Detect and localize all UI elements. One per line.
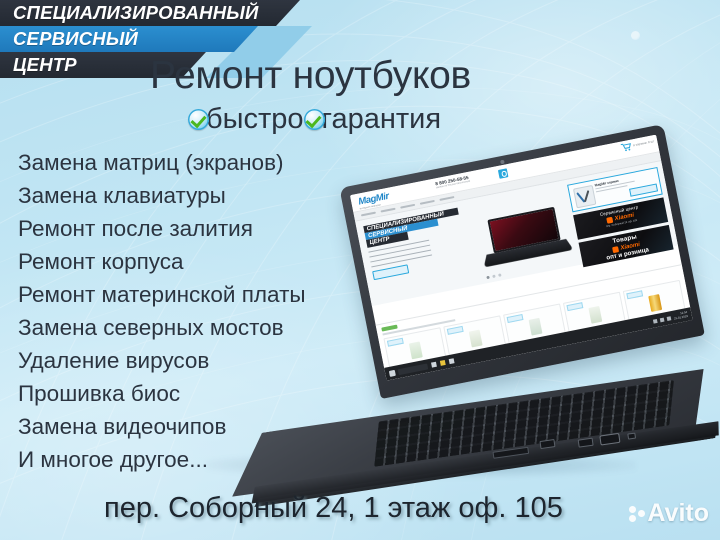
- tools-icon: [573, 185, 597, 209]
- taskbar-app-icon[interactable]: [449, 358, 455, 364]
- badge-warranty-label: гарантия: [322, 103, 442, 136]
- promo-column: MagMir сервис Сервисный центр Xiaomi: [567, 167, 674, 270]
- service-item: Удаление вирусов: [18, 344, 348, 377]
- hero-text-block: СПЕЦИАЛИЗИРОВАННЫЙ СЕРВИСНЫЙ ЦЕНТР: [363, 205, 480, 279]
- page-title: Ремонт ноутбуков: [150, 54, 570, 98]
- taskbar-tray[interactable]: 12:04 25.01.2019: [653, 311, 689, 324]
- tray-icon[interactable]: [667, 316, 672, 321]
- product-badge: [507, 314, 524, 323]
- service-item: Замена видеочипов: [18, 410, 348, 443]
- carousel-dot[interactable]: [498, 273, 502, 277]
- checkmark-icon: [304, 109, 325, 130]
- nav-item[interactable]: [380, 207, 395, 212]
- taskbar-search-box[interactable]: [398, 363, 429, 375]
- checkmark-icon: [188, 109, 209, 130]
- site-phone: 8 800 250-58-55 звонок по России бесплат…: [435, 175, 471, 190]
- services-items: Замена матриц (экранов) Замена клавиатур…: [18, 146, 348, 476]
- start-button-icon[interactable]: [389, 369, 396, 376]
- taskbar-folder-icon[interactable]: [440, 360, 446, 366]
- search-icon[interactable]: [498, 168, 509, 179]
- vga-port: [599, 433, 620, 446]
- avito-watermark: Avito: [629, 499, 709, 528]
- lock-slot: [627, 433, 636, 440]
- advertisement-poster: MagMir интернет-магазин 8 800 250-58-55 …: [0, 0, 720, 540]
- product-image: [588, 306, 602, 324]
- product-image: [408, 341, 422, 359]
- ribbon-specialized: СПЕЦИАЛИЗИРОВАННЫЙ: [0, 0, 313, 26]
- tray-icon[interactable]: [653, 318, 658, 323]
- usb-port: [578, 438, 594, 448]
- carousel-dot[interactable]: [492, 275, 496, 279]
- nav-item[interactable]: [420, 200, 435, 205]
- product-image: [468, 329, 482, 347]
- usb-port: [539, 439, 555, 449]
- product-image: [528, 317, 542, 335]
- service-item: Замена северных мостов: [18, 311, 348, 344]
- carousel-dots[interactable]: [486, 273, 501, 279]
- ribbon-service: СЕРВИСНЫЙ: [0, 26, 271, 52]
- carousel-dot[interactable]: [486, 276, 490, 280]
- product-badge: [447, 325, 464, 334]
- avito-logo-icon: [629, 503, 646, 525]
- webcam-icon: [500, 159, 505, 164]
- clock-date: 25.01.2019: [674, 314, 688, 320]
- nav-item[interactable]: [400, 204, 415, 209]
- tray-icon[interactable]: [660, 317, 665, 322]
- service-item: Ремонт после залития: [18, 212, 348, 245]
- service-item: Ремонт материнской платы: [18, 278, 348, 311]
- cart-label: в корзине: 0 шт: [633, 139, 655, 147]
- product-badge: [626, 290, 643, 299]
- service-item: Ремонт корпуса: [18, 245, 348, 278]
- service-item: Замена матриц (экранов): [18, 146, 348, 179]
- taskbar-clock[interactable]: 12:04 25.01.2019: [673, 311, 688, 320]
- product-badge: [387, 337, 404, 346]
- website-mockup: MagMir интернет-магазин 8 800 250-58-55 …: [350, 135, 693, 381]
- laptop-screen: MagMir интернет-магазин 8 800 250-58-55 …: [350, 135, 693, 381]
- nav-item[interactable]: [439, 196, 454, 201]
- taskbar-app-icon[interactable]: [431, 362, 437, 368]
- headline-badges: быстро гарантия: [188, 103, 441, 136]
- promo-card-button[interactable]: [629, 183, 658, 196]
- service-item: И многое другое...: [18, 443, 348, 476]
- product-image: [648, 294, 662, 312]
- nav-item[interactable]: [361, 211, 376, 216]
- hero-laptop-photo: [478, 205, 572, 271]
- cart-icon[interactable]: [620, 142, 633, 153]
- avito-wordmark: Avito: [647, 499, 709, 528]
- badge-fast-label: быстро: [206, 103, 304, 136]
- xiaomi-mark-icon: [606, 216, 613, 223]
- service-item: Прошивка биос: [18, 377, 348, 410]
- address-text: пер. Соборный 24, 1 этаж оф. 105: [104, 492, 563, 525]
- service-item: Замена клавиатуры: [18, 179, 348, 212]
- product-badge: [566, 302, 583, 311]
- sparkle-dot: [631, 31, 640, 40]
- services-list: Замена матриц (экранов) Замена клавиатур…: [18, 146, 348, 476]
